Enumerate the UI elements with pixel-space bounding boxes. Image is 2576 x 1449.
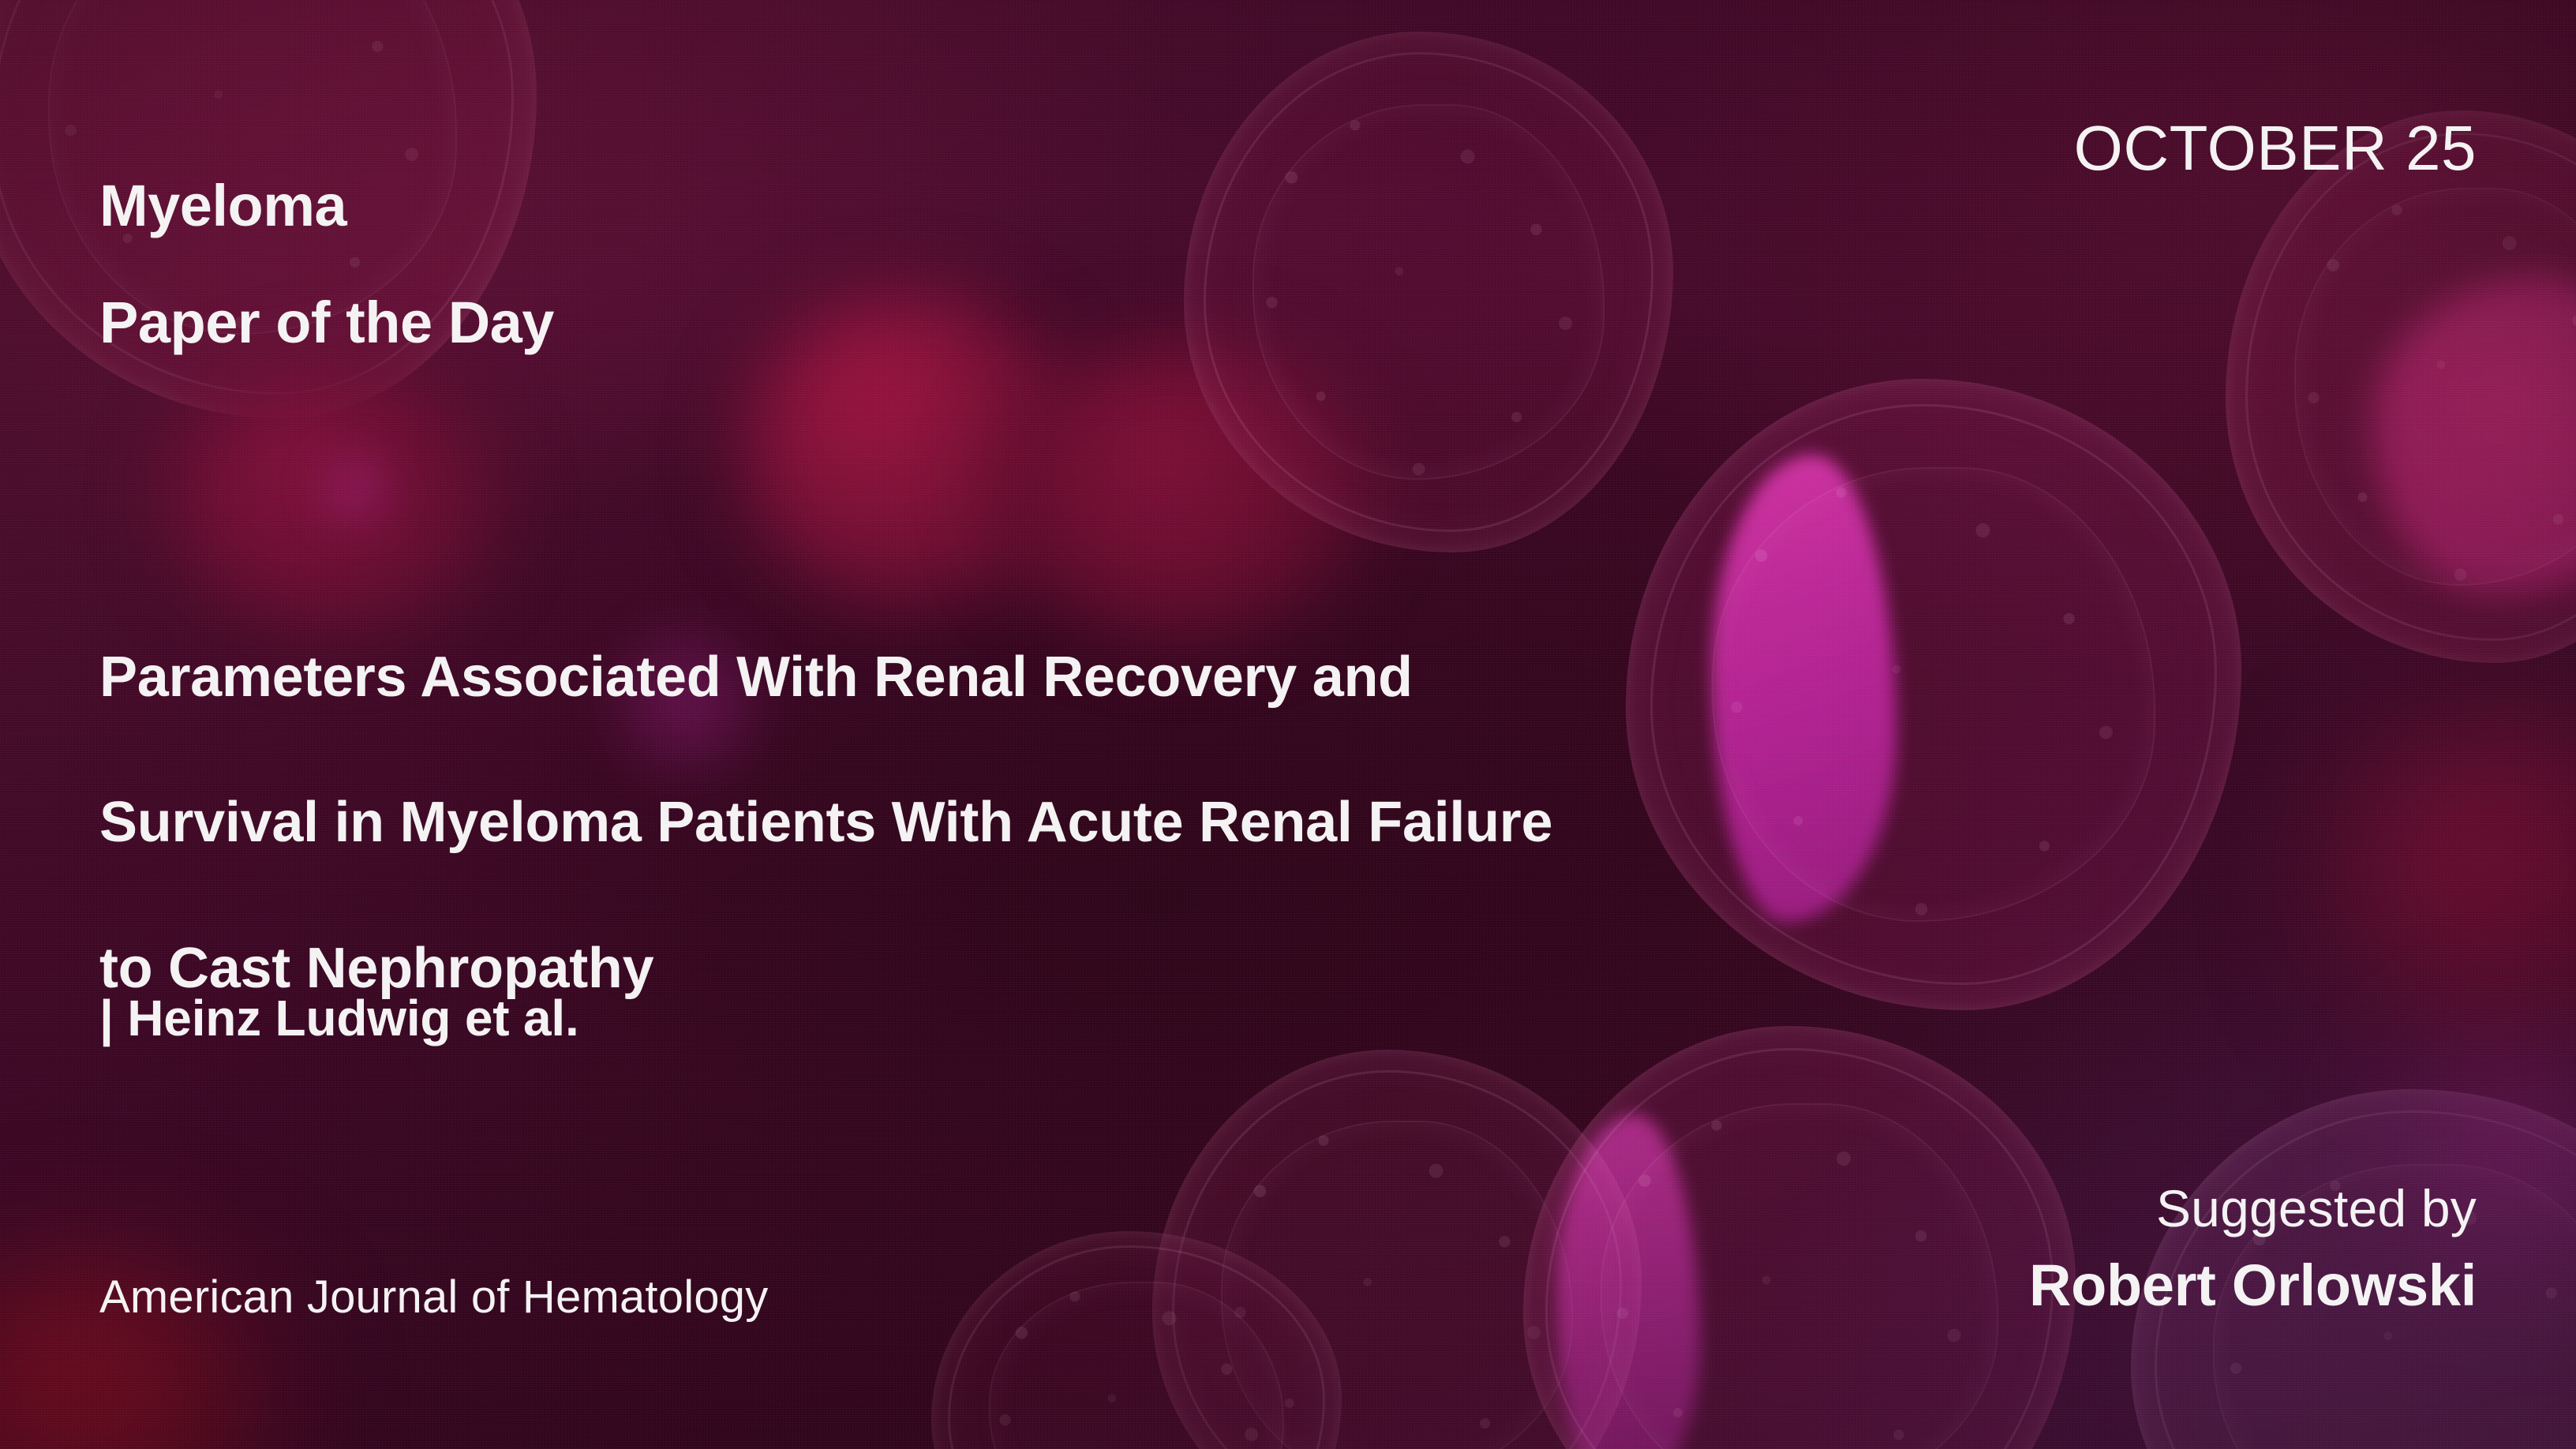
brand-title: Myeloma Paper of the Day	[99, 118, 554, 410]
date-label: OCTOBER 25	[2074, 117, 2477, 180]
brand-title-line-2: Paper of the Day	[99, 294, 554, 352]
suggested-by-name: Robert Orlowski	[2029, 1255, 2477, 1316]
paper-title-line-2: Survival in Myeloma Patients With Acute …	[99, 786, 1552, 859]
brand-title-line-1: Myeloma	[99, 177, 554, 235]
poster-content: Myeloma Paper of the Day OCTOBER 25 Para…	[0, 0, 2576, 1449]
paper-title-line-1: Parameters Associated With Renal Recover…	[99, 641, 1552, 713]
suggested-by-label: Suggested by	[2029, 1181, 2477, 1237]
suggested-by-block: Suggested by Robert Orlowski	[2029, 1168, 2477, 1330]
myeloma-paper-of-the-day-poster: Myeloma Paper of the Day OCTOBER 25 Para…	[0, 0, 2576, 1449]
journal-name: American Journal of Hematology	[99, 1275, 768, 1320]
paper-authors: | Heinz Ludwig et al.	[99, 993, 579, 1043]
